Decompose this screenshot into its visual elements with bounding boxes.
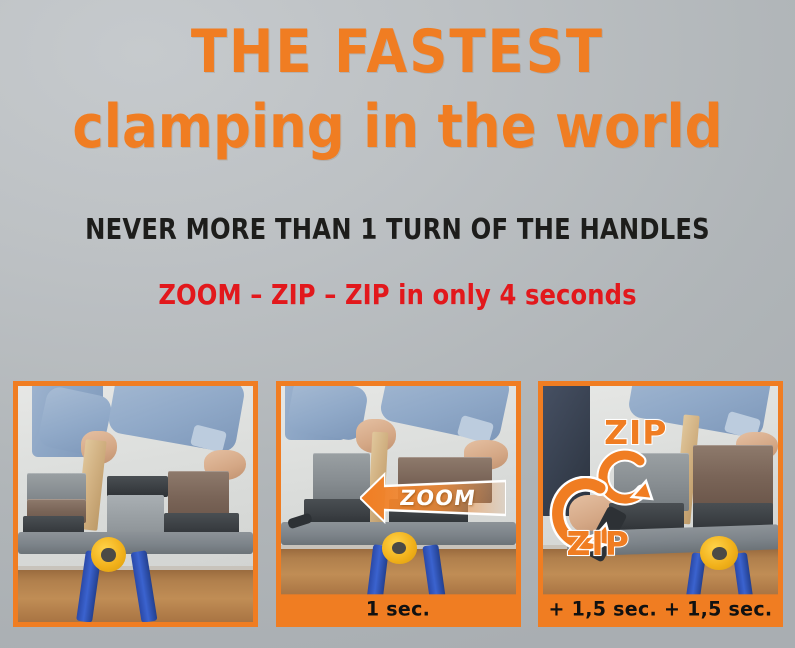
workbench-scene [18, 386, 253, 622]
subheadline: NEVER MORE THAN 1 TURN OF THE HANDLES [12, 213, 783, 246]
tagline: ZOOM – ZIP – ZIP in only 4 seconds [12, 278, 783, 310]
panel-2-caption: 1 sec. [281, 594, 516, 622]
step-panel-3: ZIP ZIP + 1,5 sec. + 1,5 sec. [538, 381, 783, 627]
bench-rail-center [107, 495, 163, 535]
bench-clamp-center [107, 476, 168, 497]
photo-step-2: ZOOM [281, 386, 516, 595]
headline-line-2: clamping in the world [0, 93, 795, 161]
step-panel-1 [13, 381, 258, 627]
pivot-hub [382, 532, 417, 563]
zoom-arrow-label: ZOOM [398, 486, 477, 510]
zip-label-bottom: ZIP [567, 524, 630, 563]
panel-row: ZOOM 1 sec. [13, 381, 783, 627]
pivot-hub [700, 536, 738, 569]
panel-3-caption: + 1,5 sec. + 1,5 sec. [543, 594, 778, 622]
promo-poster: THE FASTEST clamping in the world NEVER … [0, 0, 795, 648]
zip-label-top: ZIP [604, 413, 667, 452]
bench-frame [18, 532, 253, 553]
photo-step-3: ZIP ZIP [543, 386, 778, 595]
bench-plate-right [693, 445, 773, 508]
zoom-arrow-overlay: ZOOM [360, 472, 506, 524]
step-panel-2: ZOOM 1 sec. [276, 381, 521, 627]
photo-step-1 [18, 386, 253, 622]
headline-line-1: THE FASTEST [0, 18, 795, 86]
